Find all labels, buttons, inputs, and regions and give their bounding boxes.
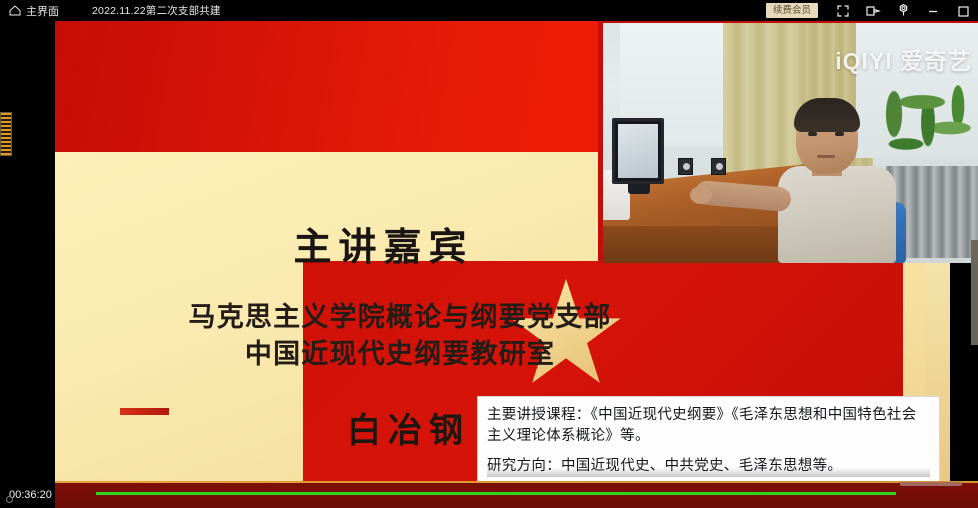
minimize-icon[interactable] [918, 0, 948, 21]
cast-icon[interactable] [858, 0, 888, 21]
maximize-icon[interactable] [948, 0, 978, 21]
progress-bar-fill[interactable] [96, 492, 896, 495]
video-speaker-right [711, 158, 726, 175]
horizontal-scrollbar[interactable] [900, 482, 962, 486]
gear-icon[interactable] [888, 0, 918, 21]
player-bottom-bar: 00:36:20 [0, 481, 978, 508]
video-person-eye-right [835, 132, 844, 136]
tab-label: 2022.11.22第二次支部共建 [92, 3, 221, 18]
video-speaker-left [678, 158, 693, 175]
caption-line-2: 研究方向：中国近现代史、中共党史、毛泽东思想等。 [487, 456, 930, 477]
window-controls: 续费会员 [766, 0, 978, 21]
video-monitor-screen [618, 124, 658, 178]
video-person-hand [690, 186, 712, 204]
video-overlay[interactable]: iQIYI 爱奇艺 [598, 18, 978, 263]
expand-arrows-icon[interactable] [828, 0, 858, 21]
title-bar: 主界面 2022.11.22第二次支部共建 续费会员 [0, 0, 978, 21]
bottom-bar-top-accent [55, 481, 978, 483]
home-button[interactable]: 主界面 [9, 0, 59, 21]
iqiyi-watermark: iQIYI 爱奇艺 [835, 42, 972, 76]
home-label: 主界面 [26, 3, 59, 19]
left-ornament-strip [0, 112, 12, 156]
playback-timestamp: 00:36:20 [9, 481, 52, 508]
video-monitor-stand [628, 184, 650, 194]
slide-subtitle-line2: 中国近现代史纲要教研室 [55, 332, 745, 371]
player-window: 主讲嘉宾 马克思主义学院概论与纲要党支部 中国近现代史纲要教研室 白冶钢 主要讲… [0, 0, 978, 508]
video-person-body [778, 166, 896, 263]
video-person-mouth [817, 155, 835, 158]
speaker-caption-box: 主要讲授课程：《中国近现代史纲要》《毛泽东思想和中国特色社会主义理论体系概论》等… [477, 396, 940, 481]
video-monitor [612, 118, 664, 184]
caption-line-1: 主要讲授课程：《中国近现代史纲要》《毛泽东思想和中国特色社会主义理论体系概论》等… [487, 405, 930, 447]
video-border-left [598, 18, 603, 263]
renew-membership-button[interactable]: 续费会员 [766, 3, 818, 18]
video-person-eye-left [808, 132, 817, 136]
home-icon [9, 5, 21, 16]
vertical-scrollbar[interactable] [971, 240, 978, 345]
video-plant [874, 62, 978, 174]
video-person-hair [794, 98, 860, 132]
open-tab[interactable]: 2022.11.22第二次支部共建 [92, 0, 221, 21]
slide-subtitle-line1: 马克思主义学院概论与纲要党支部 [55, 295, 745, 334]
corner-indicator-icon [6, 496, 13, 503]
